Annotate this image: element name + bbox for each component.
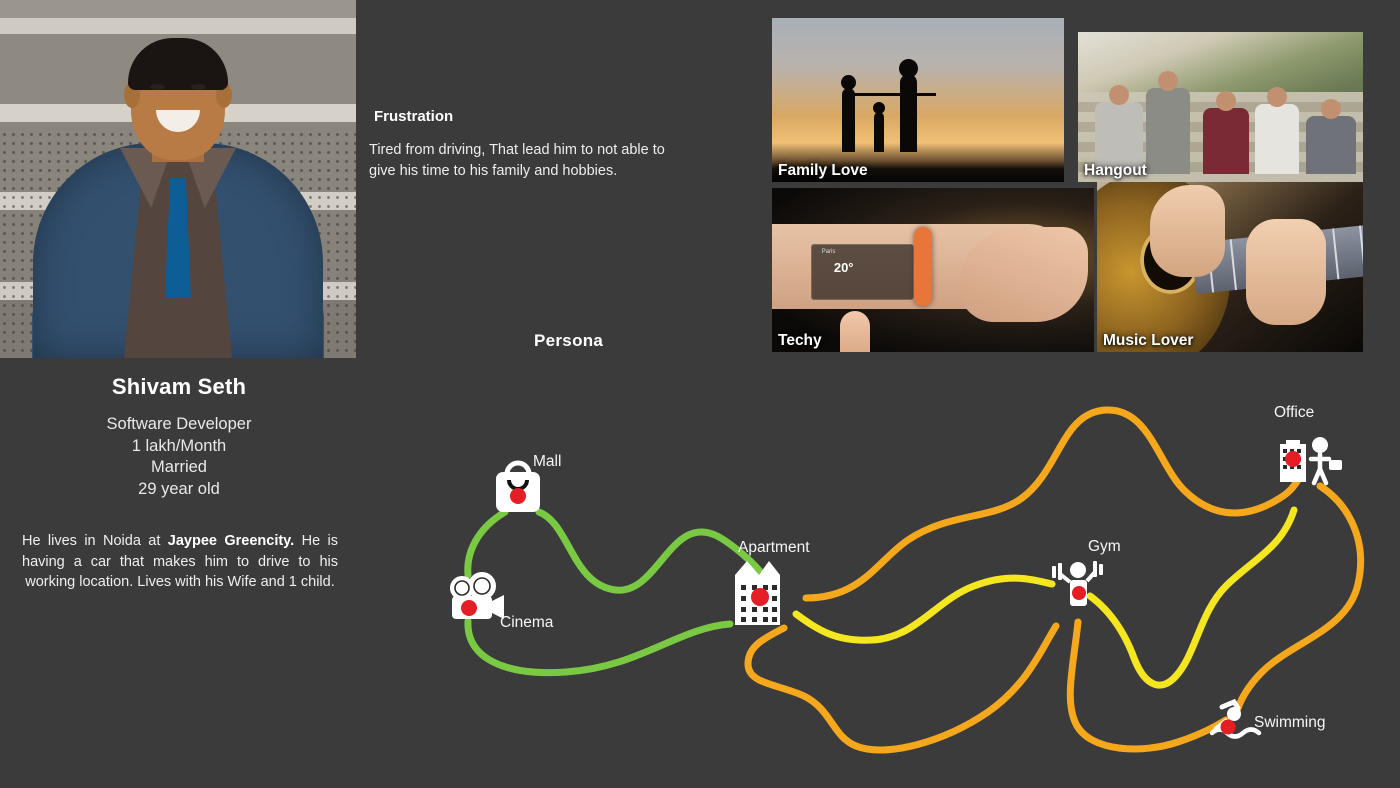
journey-node-cinema-icon[interactable]	[451, 573, 504, 619]
journey-path-apartment-loop-orange	[748, 626, 1056, 750]
journey-path-mall-apartment	[539, 512, 762, 590]
persona-board: Shivam Seth Software Developer 1 lakh/Mo…	[0, 0, 1400, 788]
mood-tile-caption: Family Love	[778, 162, 868, 180]
mood-tile-caption: Music Lover	[1103, 332, 1193, 350]
journey-path-gym-swim-orange	[1070, 622, 1226, 749]
journey-label-office: Office	[1274, 404, 1314, 422]
journey-label-gym: Gym	[1088, 538, 1121, 556]
mood-tile-caption: Techy	[778, 332, 822, 350]
journey-path-mall-cinema	[468, 512, 505, 575]
journey-label-apartment: Apartment	[738, 539, 810, 557]
journey-path-apartment-gym-yellow	[796, 578, 1052, 640]
journey-label-swimming: Swimming	[1254, 714, 1325, 732]
journey-path-office-swim-orange	[1236, 486, 1361, 714]
journey-label-cinema: Cinema	[500, 614, 553, 632]
journey-map	[0, 0, 1400, 788]
journey-label-mall: Mall	[533, 453, 561, 471]
journey-path-gym-office-yellow	[1090, 510, 1294, 685]
journey-node-office-icon[interactable]	[1280, 437, 1342, 483]
journey-node-swimming-icon[interactable]	[1212, 702, 1259, 737]
mood-tile-caption: Hangout	[1084, 162, 1147, 180]
